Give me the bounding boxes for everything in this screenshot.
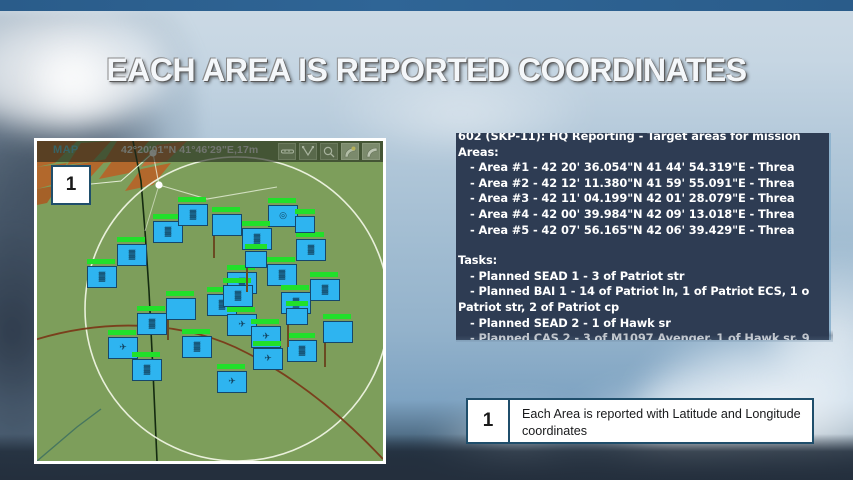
- map-panel[interactable]: ▓▓▓▓▓▓◎▓▓▓▓▓▓✈▓✈✈✈✈▓▓▓ MAP 42°20'01"N 41…: [34, 138, 386, 464]
- unit-status-bar: [178, 197, 206, 202]
- unit-symbol-glyph: ▓: [149, 319, 156, 328]
- report-area-line: - Area #2 - 42 12' 11.380"N 41 59' 55.09…: [456, 176, 829, 192]
- unit-status-bar: [166, 291, 194, 296]
- report-area-line: - Area #3 - 42 11' 04.199"N 42 01' 28.07…: [456, 191, 829, 207]
- unit-symbol-glyph: ▓: [254, 234, 261, 243]
- unit-status-bar: [217, 364, 245, 369]
- map-unit-marker[interactable]: [245, 244, 267, 292]
- unit-status-bar: [295, 209, 315, 214]
- map-unit-marker[interactable]: ✈: [253, 341, 283, 370]
- map-unit-marker[interactable]: ✈: [217, 364, 247, 393]
- unit-status-bar: [267, 257, 295, 262]
- unit-symbol-glyph: ▓: [308, 245, 315, 254]
- unit-symbol-box: [286, 308, 308, 325]
- unit-symbol-glyph: ▓: [322, 285, 329, 294]
- report-task-line: - Planned SEAD 1 - 3 of Patriot str: [456, 269, 829, 285]
- unit-status-bar: [253, 341, 281, 346]
- unit-symbol-glyph: ✈: [119, 343, 127, 352]
- satellite-dish-icon[interactable]: [341, 143, 359, 160]
- unit-marker-pole: [324, 343, 326, 367]
- unit-status-bar: [153, 214, 181, 219]
- unit-status-bar: [117, 237, 145, 242]
- unit-status-bar: [137, 306, 165, 311]
- slide-stage: EACH AREA IS REPORTED COORDINATES: [0, 0, 853, 480]
- map-unit-marker[interactable]: ▓: [87, 259, 117, 288]
- unit-symbol-glyph: ✈: [228, 377, 236, 386]
- map-unit-marker[interactable]: ▓: [178, 197, 208, 226]
- report-areas-label: Areas:: [456, 145, 829, 161]
- unit-status-bar: [323, 314, 351, 319]
- unit-status-bar: [310, 272, 338, 277]
- unit-status-bar: [212, 207, 240, 212]
- unit-marker-pole: [287, 325, 289, 347]
- map-unit-marker[interactable]: ◎: [268, 198, 298, 227]
- report-spacer: [456, 238, 829, 253]
- unit-symbol-glyph: ◎: [279, 211, 287, 220]
- route-icon[interactable]: [299, 143, 317, 160]
- report-task-line: - Planned SEAD 2 - 1 of Hawk sr: [456, 316, 829, 332]
- unit-symbol-glyph: ▓: [144, 365, 151, 374]
- map-unit-marker[interactable]: ▓: [117, 237, 147, 266]
- radar-search-icon[interactable]: [320, 143, 338, 160]
- unit-symbol-box: [323, 321, 353, 343]
- unit-symbol-glyph: ✈: [238, 320, 246, 329]
- unit-status-bar: [268, 198, 296, 203]
- map-unit-marker[interactable]: [286, 301, 308, 347]
- map-unit-marker[interactable]: ▓: [296, 232, 326, 261]
- map-unit-marker[interactable]: ▓: [310, 272, 340, 301]
- unit-symbol-glyph: ✈: [262, 332, 270, 341]
- map-callout-badge: 1: [51, 165, 91, 205]
- callout-text: Each Area is reported with Latitude and …: [510, 400, 812, 442]
- report-task-line-continued: Patriot str, 2 of Patriot cp: [456, 300, 829, 316]
- unit-symbol-glyph: ▓: [190, 210, 197, 219]
- report-tasks-label: Tasks:: [456, 253, 829, 269]
- unit-symbol-glyph: ▓: [194, 342, 201, 351]
- unit-symbol-box: [245, 251, 267, 268]
- map-unit-marker[interactable]: [323, 314, 353, 367]
- unit-status-bar: [227, 307, 255, 312]
- unit-status-bar: [87, 259, 115, 264]
- unit-marker-pole: [213, 236, 215, 258]
- unit-status-bar: [251, 319, 279, 324]
- unit-marker-pole: [246, 268, 248, 292]
- map-canvas[interactable]: ▓▓▓▓▓▓◎▓▓▓▓▓▓✈▓✈✈✈✈▓▓▓ MAP 42°20'01"N 41…: [37, 141, 383, 461]
- map-unit-marker[interactable]: [166, 291, 196, 340]
- unit-marker-pole: [167, 320, 169, 340]
- report-panel[interactable]: 602 (SKP-11): HQ Reporting - Target area…: [456, 133, 831, 340]
- unit-symbol-glyph: ▓: [165, 227, 172, 236]
- map-unit-marker[interactable]: ▓: [267, 257, 297, 286]
- report-header-line: 602 (SKP-11): HQ Reporting - Target area…: [456, 133, 829, 145]
- unit-symbol-glyph: ▓: [99, 272, 106, 281]
- map-unit-marker[interactable]: ▓: [137, 306, 167, 335]
- map-toolbar[interactable]: [278, 143, 380, 160]
- top-accent-band: [0, 0, 853, 11]
- map-unit-marker[interactable]: [295, 209, 315, 233]
- ruler-icon[interactable]: [278, 143, 296, 160]
- unit-status-bar: [286, 301, 308, 306]
- map-unit-marker[interactable]: ▓: [132, 352, 162, 381]
- map-unit-marker[interactable]: [212, 207, 242, 258]
- waypoint-dot-2: [155, 181, 162, 188]
- unit-status-bar: [281, 285, 309, 290]
- report-area-line: - Area #5 - 42 07' 56.165"N 42 06' 39.42…: [456, 223, 829, 239]
- unit-symbol-glyph: ▓: [235, 291, 242, 300]
- report-task-line: - Planned BAI 1 - 14 of Patriot ln, 1 of…: [456, 284, 829, 300]
- unit-symbol-box: [295, 216, 315, 233]
- callout-number: 1: [468, 400, 510, 442]
- unit-status-bar: [242, 221, 270, 226]
- unit-symbol-box: [166, 298, 196, 320]
- unit-symbol-box: [212, 214, 242, 236]
- unit-symbol-glyph: ✈: [264, 354, 272, 363]
- unit-symbol-glyph: ▓: [129, 250, 136, 259]
- report-area-line: - Area #1 - 42 20' 36.054"N 41 44' 54.31…: [456, 160, 829, 176]
- report-bottom-fade: [456, 330, 833, 342]
- satellite-dish-alt-icon[interactable]: [362, 143, 380, 160]
- unit-status-bar: [245, 244, 267, 249]
- unit-symbol-glyph: ▓: [299, 346, 306, 355]
- unit-status-bar: [132, 352, 160, 357]
- page-title: EACH AREA IS REPORTED COORDINATES: [0, 52, 853, 89]
- unit-symbol-glyph: ▓: [279, 270, 286, 279]
- unit-status-bar: [108, 330, 136, 335]
- callout-box: 1 Each Area is reported with Latitude an…: [466, 398, 814, 444]
- report-area-line: - Area #4 - 42 00' 39.984"N 42 09' 13.01…: [456, 207, 829, 223]
- road-minor: [37, 409, 101, 461]
